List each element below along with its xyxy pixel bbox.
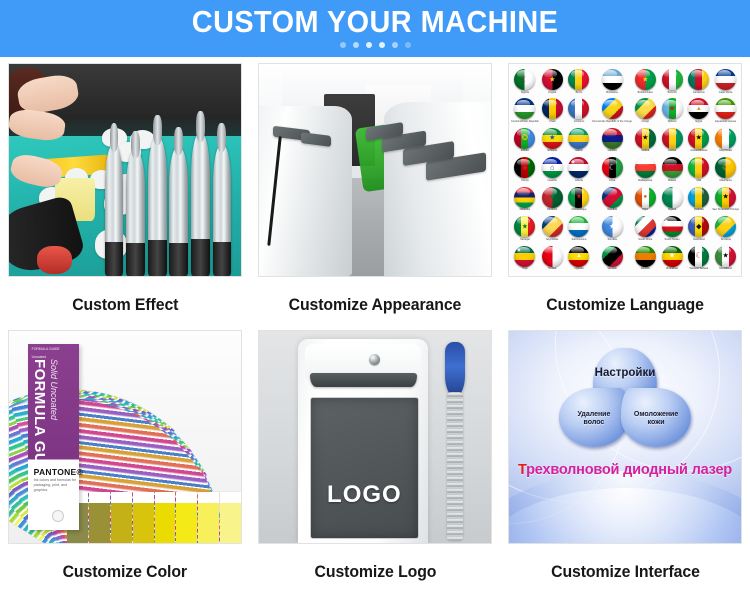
star-icon: ★ — [722, 253, 728, 260]
pantone-swatch — [89, 503, 110, 543]
flag-icon[interactable]: ★ — [715, 187, 736, 208]
star-icon: ★ — [609, 223, 615, 230]
flag-label: Gambia — [592, 149, 632, 152]
carousel-dot-1[interactable] — [340, 42, 346, 48]
flag-item[interactable]: ☀Rwanda — [685, 185, 712, 214]
flag-item[interactable]: ◆Kenya — [511, 155, 539, 184]
flag-icon[interactable] — [568, 69, 589, 90]
card-custom-effect[interactable]: Custom Effect — [0, 57, 250, 324]
flag-item[interactable]: Chad — [539, 96, 566, 125]
thumb-customize-logo[interactable]: LOGO — [258, 330, 492, 544]
flag-item[interactable]: ★South Sudan — [659, 214, 686, 243]
skin-rejuv-line2: кожи — [648, 419, 665, 426]
flag-item[interactable]: ★Angola — [539, 67, 566, 96]
flag-label: Swaziland — [685, 238, 712, 241]
flag-icon[interactable]: ◆ — [688, 216, 709, 237]
flag-item[interactable]: Cape Verde — [712, 67, 739, 96]
star-icon: ★ — [669, 105, 675, 112]
flag-label: Nigeria — [659, 208, 686, 211]
flag-icon[interactable]: ★ — [602, 216, 623, 237]
machine-screen: LOGO — [310, 397, 419, 539]
flag-item[interactable]: ★Djibouti — [659, 96, 686, 125]
sun-icon: ☀ — [695, 193, 702, 201]
flag-item[interactable]: Tanzania — [712, 214, 739, 243]
logo-placeholder-text: LOGO — [327, 481, 402, 509]
star-icon: ★ — [517, 249, 521, 254]
flag-item[interactable]: ☾Algeria — [511, 67, 539, 96]
star-icon: ★ — [549, 194, 555, 201]
flag-item[interactable]: ★Somaliland — [712, 244, 739, 273]
flag-item[interactable]: ✕Burundi — [659, 67, 686, 96]
flag-item[interactable]: Vanuatu — [592, 244, 632, 273]
flag-label: Tanzania — [712, 238, 739, 241]
flag-label: Equatorial Guinea — [712, 120, 739, 123]
carousel-dot-6[interactable] — [405, 42, 411, 48]
pantone-swatch — [176, 503, 197, 543]
flag-icon[interactable] — [715, 128, 736, 149]
flag-item[interactable]: Gabon — [566, 126, 593, 155]
flag-label: Togo — [511, 267, 539, 270]
flag-item[interactable]: Benin — [566, 67, 593, 96]
pantone-color-chip — [176, 492, 197, 543]
flag-icon[interactable]: ▲ — [635, 246, 656, 267]
flag-item[interactable]: Madagascar — [632, 155, 659, 184]
flag-item[interactable]: ★Somalia — [592, 214, 632, 243]
pantone-swatch — [133, 503, 154, 543]
flag-item[interactable]: ☾Western Sahara — [685, 244, 712, 273]
flag-item[interactable]: Namibia — [592, 185, 632, 214]
flag-item[interactable]: Democratic Republic of the Congo — [592, 96, 632, 125]
handpiece-icon — [445, 342, 466, 397]
hair-removal-line2: волос — [584, 419, 605, 426]
interface-title-rest: рехволновой диодный лазер — [526, 462, 732, 478]
flag-label: Mauritius — [511, 208, 539, 211]
card-customize-color[interactable]: FORMULA GUIDE Uncoated FORMULA GUIDE Sol… — [0, 324, 250, 591]
thumb-customize-appearance[interactable] — [258, 63, 492, 277]
card-customize-appearance[interactable]: Customize Appearance — [250, 57, 500, 324]
flag-icon[interactable] — [568, 128, 589, 149]
flag-label: Niger — [632, 208, 659, 211]
thumb-custom-effect[interactable] — [8, 63, 242, 277]
flag-icon[interactable] — [602, 69, 623, 90]
flag-label: Chad — [539, 120, 566, 123]
flag-item[interactable]: ●Niger — [632, 185, 659, 214]
flag-icon[interactable]: ◆ — [514, 157, 535, 178]
flag-icon[interactable]: ★ — [662, 246, 683, 267]
pantone-color-chip — [155, 492, 176, 543]
flag-label: Ethiopia — [539, 149, 566, 152]
flag-label: Lesotho — [539, 179, 566, 182]
carousel-dot-5[interactable] — [392, 42, 398, 48]
star-icon: ★ — [522, 223, 528, 230]
flag-icon[interactable]: ★ — [514, 246, 535, 267]
flag-icon[interactable]: ▲ — [688, 98, 709, 119]
flag-label: Mozambique — [566, 208, 593, 211]
machine-logo-screen-photo: LOGO — [259, 331, 491, 543]
flag-item[interactable]: ★Sao Tome and Principe — [712, 185, 739, 214]
flag-item[interactable]: Nigeria — [659, 185, 686, 214]
star-icon: ★ — [722, 194, 728, 201]
card-customize-logo[interactable]: LOGO Customize Logo — [250, 324, 500, 591]
flag-label: Malawi — [659, 179, 686, 182]
caption-custom-effect: Custom Effect — [72, 286, 178, 324]
flag-icon[interactable]: ☾ — [715, 157, 736, 178]
flag-item[interactable]: Seychelles — [539, 214, 566, 243]
flag-item[interactable]: Mali — [685, 155, 712, 184]
flag-item[interactable]: Congo — [632, 96, 659, 125]
pantone-color-chip — [220, 492, 241, 543]
pantone-color-chip — [89, 492, 110, 543]
flag-icon[interactable] — [688, 69, 709, 90]
flag-label: Djibouti — [659, 120, 686, 123]
flag-icon[interactable] — [542, 98, 563, 119]
pantone-swatch — [220, 503, 241, 543]
flag-label: Kenya — [511, 179, 539, 182]
menu-clover: Настройки Удаление волос Омоложение кож — [559, 348, 691, 458]
flag-item[interactable]: Sierra Leone — [566, 214, 593, 243]
flag-icon[interactable]: ☾ — [542, 246, 563, 267]
caption-customize-appearance: Customize Appearance — [289, 286, 462, 324]
star-icon: ★ — [642, 135, 648, 142]
flag-icon[interactable] — [602, 187, 623, 208]
interface-title: Трехволновой диодный лазер — [509, 462, 741, 478]
crescent-icon: ☾ — [549, 252, 556, 260]
flag-label: Mali — [685, 179, 712, 182]
flag-icon[interactable] — [635, 216, 656, 237]
flag-label: Burundi — [659, 91, 686, 94]
flag-label: Ivory Coast — [712, 149, 739, 152]
flag-item[interactable]: Botswana — [592, 67, 632, 96]
crescent-icon: ☾ — [609, 164, 616, 172]
flag-icon[interactable] — [662, 128, 683, 149]
flag-icon[interactable]: ★ — [635, 128, 656, 149]
star-icon: ★ — [696, 135, 702, 142]
flag-label: Guinea-Bissau — [685, 149, 712, 152]
pantone-formula-guide-photo: FORMULA GUIDE Uncoated FORMULA GUIDE Sol… — [9, 331, 241, 543]
flag-icon[interactable] — [602, 246, 623, 267]
coiled-cable — [447, 392, 463, 540]
flag-label: South Africa — [632, 238, 659, 241]
bird-icon: ▲ — [576, 253, 582, 259]
flag-label: Zimbabwe — [659, 267, 686, 270]
page-banner: CUSTOM YOUR MACHINE — [0, 0, 750, 57]
flag-label: Tunisia — [539, 267, 566, 270]
flag-icon[interactable] — [635, 98, 656, 119]
pantone-color-chips — [67, 492, 241, 543]
flag-item[interactable]: Cameroon — [685, 67, 712, 96]
flag-icon[interactable]: ★ — [662, 98, 683, 119]
menu-item-hair-removal-label: Удаление волос — [573, 411, 614, 428]
star-icon: ★ — [549, 76, 555, 83]
flag-item[interactable]: ☾Mauritania — [712, 155, 739, 184]
flag-label: Vanuatu — [592, 267, 632, 270]
flag-icon[interactable]: ☀ — [688, 187, 709, 208]
flag-label: Uganda — [566, 267, 593, 270]
flag-item[interactable]: ☀Malawi — [659, 155, 686, 184]
flag-label: Namibia — [592, 208, 632, 211]
flag-item[interactable]: Comoros — [566, 96, 593, 125]
crescent-icon: ☾ — [695, 252, 702, 260]
pantone-cover: FORMULA GUIDE Uncoated FORMULA GUIDE Sol… — [28, 344, 79, 531]
star-icon: ★ — [576, 194, 582, 201]
pantone-color-chip — [133, 492, 154, 543]
flag-item[interactable]: ★Ethiopia — [539, 126, 566, 155]
flag-icon[interactable]: ● — [635, 187, 656, 208]
flag-label: Senegal — [511, 238, 539, 241]
flag-icon[interactable] — [568, 98, 589, 119]
thumb-customize-color[interactable]: FORMULA GUIDE Uncoated FORMULA GUIDE Sol… — [8, 330, 242, 544]
flag-label: Libya — [592, 179, 632, 182]
flag-item[interactable]: ▲Egypt — [685, 96, 712, 125]
pantone-swatch — [111, 503, 132, 543]
bird-icon: ▲ — [642, 253, 648, 259]
flag-icon[interactable]: ☾ — [602, 157, 623, 178]
card-customize-language[interactable]: ☾Algeria★AngolaBeninBotswana★Burkina Fas… — [500, 57, 750, 324]
pantone-brand: PANTONE® — [34, 467, 83, 477]
flag-icon[interactable] — [715, 69, 736, 90]
flag-icon[interactable]: ★ — [514, 216, 535, 237]
sun-icon: ☀ — [668, 164, 675, 172]
shield-icon: ◆ — [696, 223, 701, 230]
flag-item[interactable]: Ivory Coast — [712, 126, 739, 155]
flag-icon[interactable]: ★ — [568, 187, 589, 208]
flag-grid: ☾Algeria★AngolaBeninBotswana★Burkina Fas… — [511, 67, 739, 273]
caption-customize-logo: Customize Logo — [314, 553, 436, 591]
flag-item[interactable]: ▲Uganda — [566, 244, 593, 273]
flag-icon[interactable]: ★ — [635, 69, 656, 90]
flag-item[interactable]: ★Ghana — [632, 126, 659, 155]
flag-item[interactable]: ❂Eritrea — [511, 126, 539, 155]
caption-customize-interface: Customize Interface — [551, 553, 700, 591]
star-icon: ★ — [571, 161, 575, 166]
interface-title-initial: Т — [518, 462, 526, 478]
thumb-customize-interface[interactable]: Настройки Удаление волос Омоложение кож — [508, 330, 742, 544]
flag-label: Liberia — [566, 179, 593, 182]
cross-icon: ✕ — [668, 75, 676, 84]
caption-customize-language: Customize Language — [546, 286, 704, 324]
pantone-ring-hole — [52, 510, 64, 522]
flag-item[interactable]: Gambia — [592, 126, 632, 155]
flag-item[interactable]: ★Burkina Faso — [632, 67, 659, 96]
flag-label: Benin — [566, 91, 593, 94]
flag-icon[interactable] — [602, 98, 623, 119]
warehouse-machines-photo — [259, 64, 491, 276]
custom-options-grid: Custom Effect — [0, 57, 750, 591]
carousel-dots[interactable] — [340, 42, 411, 48]
flag-item[interactable]: ★Liberia — [566, 155, 593, 184]
flag-icon[interactable]: ★ — [542, 128, 563, 149]
flag-label: Seychelles — [539, 238, 566, 241]
flag-item[interactable]: ★Guinea-Bissau — [685, 126, 712, 155]
flag-item[interactable]: Mauritius — [511, 185, 539, 214]
flag-item[interactable]: Guinea — [659, 126, 686, 155]
star-icon: ★ — [549, 135, 555, 142]
flag-label: Comoros — [566, 120, 593, 123]
flag-icon[interactable] — [514, 98, 535, 119]
flag-label: Egypt — [685, 120, 712, 123]
flag-icon[interactable] — [514, 187, 535, 208]
flag-icon[interactable]: ⌂ — [542, 157, 563, 178]
flag-icon[interactable]: ❂ — [514, 128, 535, 149]
circle-icon: ● — [643, 194, 647, 200]
crescent-icon: ☾ — [521, 76, 528, 84]
skin-rejuv-line1: Омоложение — [634, 411, 678, 418]
flag-label: Central African Republic — [511, 120, 539, 123]
pantone-swatch — [155, 503, 176, 543]
flag-label: Angola — [539, 91, 566, 94]
flag-icon[interactable]: ★ — [715, 246, 736, 267]
flag-label: Guinea — [659, 149, 686, 152]
flag-icon[interactable]: ▲ — [568, 246, 589, 267]
flag-label: Ghana — [632, 149, 659, 152]
flag-item[interactable]: ⌂Lesotho — [539, 155, 566, 184]
hat-icon: ⌂ — [550, 164, 554, 171]
pantone-cover-small-label: FORMULA GUIDE — [32, 347, 60, 351]
flag-label: Cameroon — [685, 91, 712, 94]
wreath-icon: ❂ — [522, 134, 529, 142]
flag-label: Sierra Leone — [566, 238, 593, 241]
flag-item[interactable]: ◆Swaziland — [685, 214, 712, 243]
pantone-blurb: Ink colors and formulas for packaging, p… — [34, 478, 79, 493]
flag-item[interactable]: ★Morocco — [539, 185, 566, 214]
flag-label: Zambia — [632, 267, 659, 270]
flag-icon[interactable]: ★ — [662, 216, 683, 237]
menu-item-settings-label: Настройки — [591, 367, 660, 380]
flag-label: Botswana — [592, 91, 632, 94]
caption-customize-color: Customize Color — [63, 553, 187, 591]
flag-label: Mauritania — [712, 179, 739, 182]
flag-item[interactable]: ☾Libya — [592, 155, 632, 184]
carousel-dot-4[interactable] — [379, 42, 385, 48]
flag-icon[interactable] — [715, 216, 736, 237]
flag-label: Burkina Faso — [632, 91, 659, 94]
flag-item[interactable]: South Africa — [632, 214, 659, 243]
carousel-dot-2[interactable] — [353, 42, 359, 48]
flag-icon[interactable] — [662, 187, 683, 208]
flag-item[interactable]: Equatorial Guinea — [712, 96, 739, 125]
flag-label: Cape Verde — [712, 91, 739, 94]
flag-label: South Sudan — [659, 238, 686, 241]
flag-icon[interactable] — [542, 216, 563, 237]
flag-label: Madagascar — [632, 179, 659, 182]
card-customize-interface[interactable]: Настройки Удаление волос Омоложение кож — [500, 324, 750, 591]
bird-icon: ▲ — [696, 106, 702, 112]
flag-label: Western Sahara — [685, 267, 712, 270]
flag-icon[interactable] — [635, 157, 656, 178]
flag-item[interactable]: ★Mozambique — [566, 185, 593, 214]
star-icon: ★ — [664, 220, 668, 225]
star-icon: ★ — [669, 253, 675, 260]
thumb-customize-language[interactable]: ☾Algeria★AngolaBeninBotswana★Burkina Fas… — [508, 63, 742, 277]
flag-item[interactable]: ▲Zambia — [632, 244, 659, 273]
flag-label: Algeria — [511, 91, 539, 94]
flag-icon[interactable]: ★ — [568, 157, 589, 178]
pantone-color-chip — [198, 492, 219, 543]
flag-icon[interactable] — [715, 98, 736, 119]
flag-label: Morocco — [539, 208, 566, 211]
crescent-icon: ☾ — [722, 164, 729, 172]
flag-item[interactable]: ☾Tunisia — [539, 244, 566, 273]
menu-item-skin-rejuvenation[interactable]: Омоложение кожи — [621, 388, 691, 448]
flag-icon[interactable]: ☀ — [662, 157, 683, 178]
factory-assembly-line-photo — [9, 64, 241, 276]
flag-item[interactable]: Central African Republic — [511, 96, 539, 125]
pantone-swatch — [198, 503, 219, 543]
hair-removal-line1: Удаление — [577, 411, 610, 418]
flag-icon[interactable]: ★ — [542, 69, 563, 90]
carousel-dot-3[interactable] — [366, 42, 372, 48]
pantone-subtitle: Solid Uncoated — [49, 359, 59, 420]
flag-item[interactable]: ★Zimbabwe — [659, 244, 686, 273]
flag-item[interactable]: ★Senegal — [511, 214, 539, 243]
flag-label: Sao Tome and Principe — [712, 208, 739, 211]
flag-icon[interactable]: ☾ — [514, 69, 535, 90]
menu-item-hair-removal[interactable]: Удаление волос — [559, 388, 629, 448]
flag-label: Democratic Republic of the Congo — [592, 120, 632, 123]
country-flags-grid: ☾Algeria★AngolaBeninBotswana★Burkina Fas… — [509, 64, 741, 276]
russian-interface-screenshot: Настройки Удаление волос Омоложение кож — [509, 331, 741, 543]
flag-icon[interactable] — [568, 216, 589, 237]
flag-item[interactable]: ★Togo — [511, 244, 539, 273]
shield-icon: ◆ — [522, 164, 527, 171]
flag-label: Eritrea — [511, 149, 539, 152]
star-icon: ★ — [642, 76, 648, 83]
flag-label: Somaliland — [712, 267, 739, 270]
custom-machine-page: CUSTOM YOUR MACHINE — [0, 0, 750, 590]
flag-label: Gabon — [566, 149, 593, 152]
flag-label: Congo — [632, 120, 659, 123]
flag-label: Rwanda — [685, 208, 712, 211]
menu-item-skin-rejuvenation-label: Омоложение кожи — [630, 411, 682, 428]
flag-icon[interactable]: ☾ — [688, 246, 709, 267]
flag-icon[interactable]: ★ — [542, 187, 563, 208]
page-title: CUSTOM YOUR MACHINE — [192, 5, 559, 39]
flag-icon[interactable]: ✕ — [662, 69, 683, 90]
handpiece-row — [102, 102, 242, 276]
flag-icon[interactable]: ★ — [688, 128, 709, 149]
flag-icon[interactable] — [602, 128, 623, 149]
flag-label: Somalia — [592, 238, 632, 241]
flag-icon[interactable] — [688, 157, 709, 178]
pantone-color-chip — [111, 492, 132, 543]
